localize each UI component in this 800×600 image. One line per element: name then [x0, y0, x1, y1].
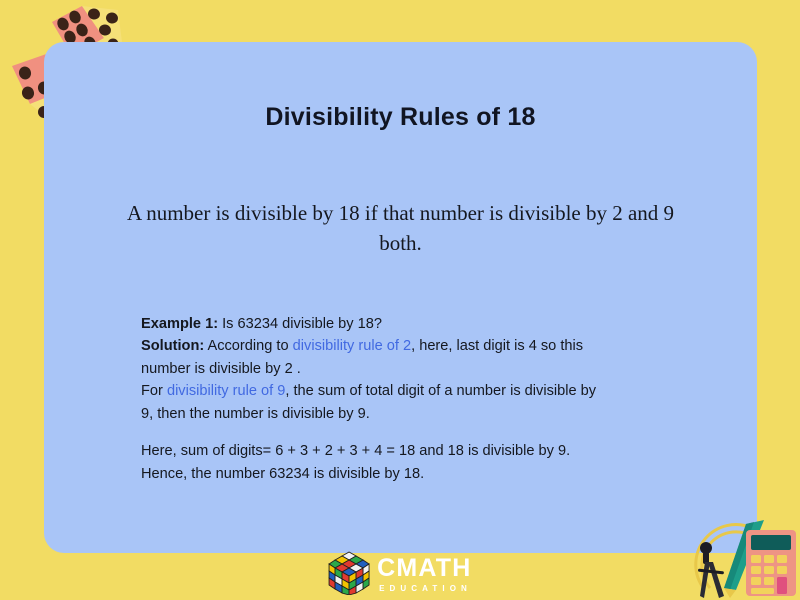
solution-line-1-text-0: According to	[204, 338, 292, 354]
footer-logo[interactable]: CMATH EDUCATION	[328, 550, 472, 596]
logo-wordmark: CMATH EDUCATION	[377, 554, 472, 593]
divisibility-rule-link[interactable]: divisibility rule of 9	[167, 383, 285, 399]
solution-line-2-text-0: number is divisible by 2 .	[141, 361, 301, 377]
paragraph-spacer	[141, 425, 701, 440]
solution-line-3-text-2: , the sum of total digit of a number is …	[285, 383, 596, 399]
solution-line-3: For divisibility rule of 9, the sum of t…	[141, 380, 701, 402]
rule-statement: A number is divisible by 18 if that numb…	[114, 199, 687, 259]
solution-line-4-text-0: 9, then the number is divisible by 9.	[141, 406, 370, 422]
logo-tagline: EDUCATION	[379, 585, 472, 593]
conclusion-line-2-text-0: Hence, the number 63234 is divisible by …	[141, 466, 424, 482]
solution-line-3-text-0: For	[141, 383, 167, 399]
solution-line-1: Solution: According to divisibility rule…	[141, 335, 701, 357]
logo-name: CMATH	[377, 556, 472, 581]
conclusion-line-1: Here, sum of digits= 6 + 3 + 2 + 3 + 4 =…	[141, 440, 701, 462]
example-question-text-0: Is 63234 divisible by 18?	[218, 316, 382, 332]
conclusion-line-2: Hence, the number 63234 is divisible by …	[141, 463, 701, 485]
slide-card: Divisibility Rules of 18 A number is div…	[44, 42, 757, 553]
divisibility-rule-link[interactable]: divisibility rule of 2	[293, 338, 411, 354]
rubiks-cube-icon	[328, 551, 370, 595]
example-question-lead: Example 1:	[141, 316, 218, 332]
solution-line-1-text-2: , here, last digit is 4 so this	[411, 338, 583, 354]
example-question: Example 1: Is 63234 divisible by 18?	[141, 313, 701, 335]
solution-line-2: number is divisible by 2 .	[141, 358, 701, 380]
conclusion-line-1-text-0: Here, sum of digits= 6 + 3 + 2 + 3 + 4 =…	[141, 443, 570, 459]
page-title: Divisibility Rules of 18	[44, 103, 757, 132]
example-block: Example 1: Is 63234 divisible by 18?Solu…	[141, 313, 701, 485]
solution-line-1-lead: Solution:	[141, 338, 204, 354]
solution-line-4: 9, then the number is divisible by 9.	[141, 403, 701, 425]
